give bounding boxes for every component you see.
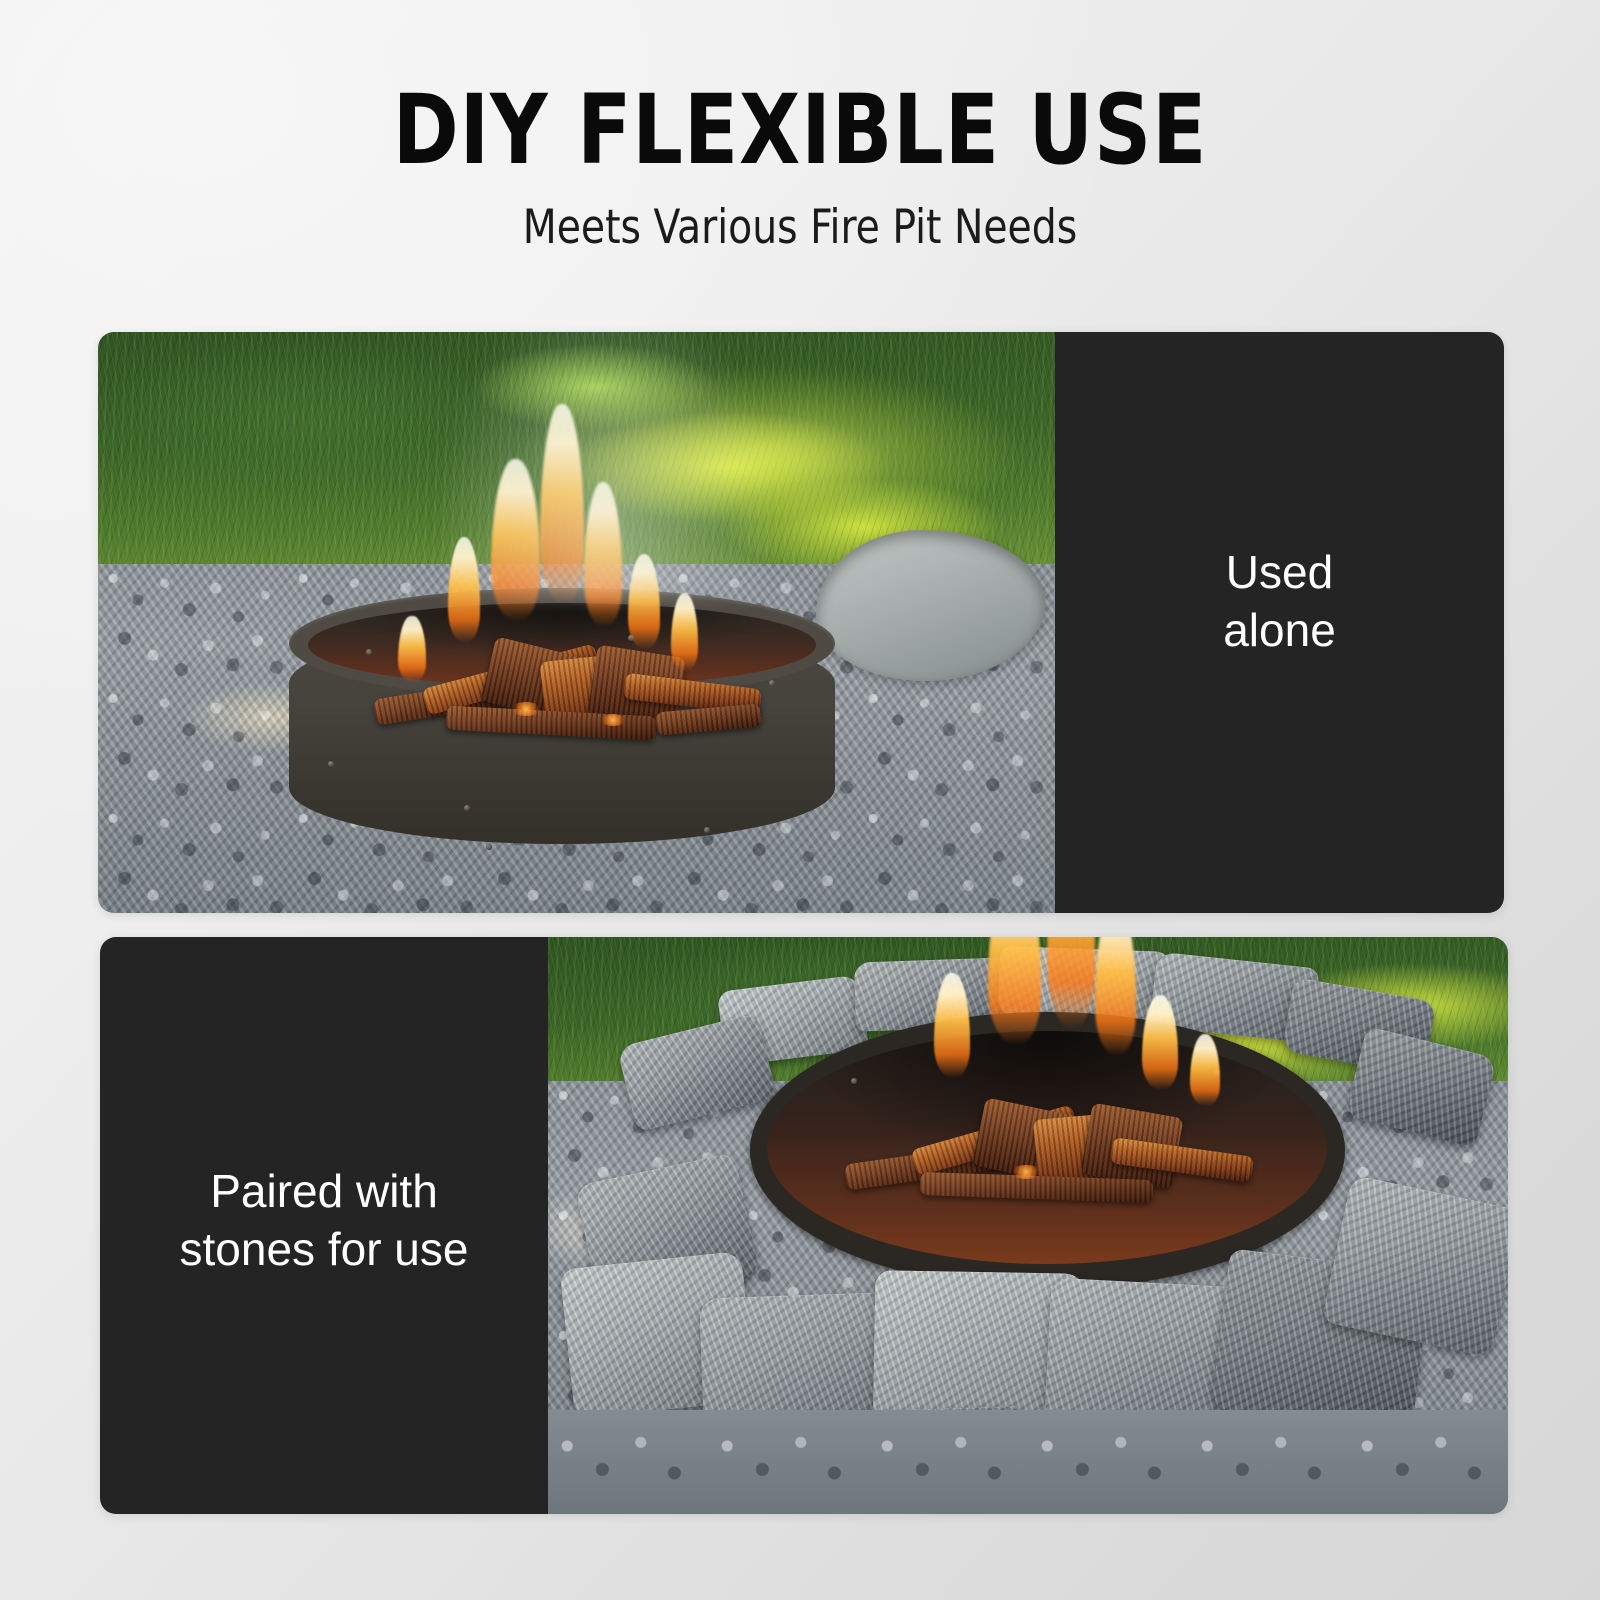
scene-gravel-yard [98, 332, 1055, 913]
flame [1190, 1034, 1220, 1106]
flame [988, 937, 1042, 1045]
caption-text: Used alone [1223, 544, 1336, 658]
product-feature-banner: DIY FLEXIBLE USE Meets Various Fire Pit … [0, 0, 1600, 1600]
rivet-bolt [486, 844, 492, 850]
flame [1095, 937, 1137, 1056]
caption-panel-paired-with-stones: Paired with stones for use [100, 937, 548, 1514]
fire-ring [289, 588, 834, 867]
smoke-plume [443, 332, 768, 599]
page-subtitle: Meets Various Fire Pit Needs [56, 178, 1544, 251]
photo-fire-ring-alone [98, 332, 1055, 913]
log-pile [366, 621, 770, 772]
feature-card-paired-with-stones: Paired with stones for use [100, 937, 1508, 1514]
page-title: DIY FLEXIBLE USE [64, 0, 1536, 178]
flame [398, 616, 425, 683]
feature-card-used-alone: Used alone [98, 332, 1504, 913]
rivet-bolt [328, 761, 334, 767]
fire-ring [750, 1012, 1345, 1289]
scene-stone-fire-pit [548, 937, 1508, 1514]
gravel-foreground [548, 1410, 1508, 1514]
ember-glow [1011, 1165, 1041, 1179]
caption-panel-used-alone: Used alone [1055, 332, 1504, 913]
caption-text: Paired with stones for use [180, 1163, 469, 1277]
log-pile [845, 1084, 1262, 1228]
banner-header: DIY FLEXIBLE USE Meets Various Fire Pit … [0, 0, 1600, 251]
photo-fire-ring-with-stones [548, 937, 1508, 1514]
